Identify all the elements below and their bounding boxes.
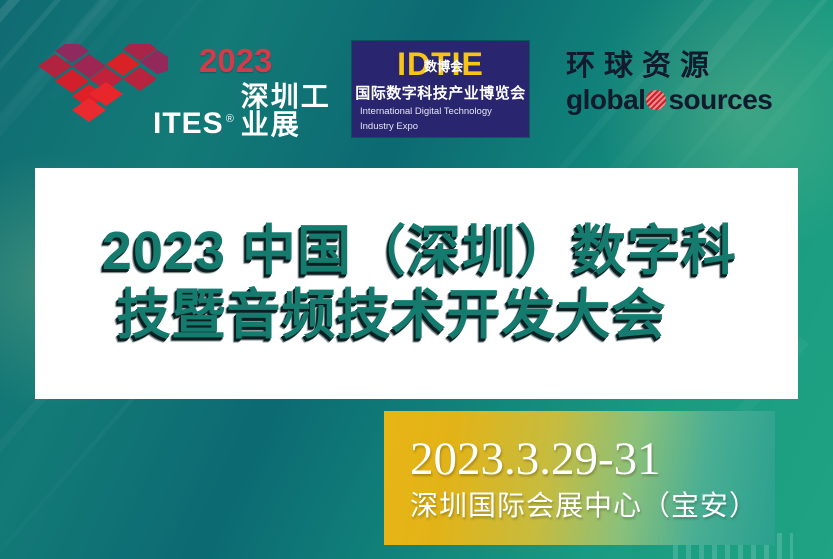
idtie-overlay-chinese: 数博会 (424, 60, 463, 73)
ites-chinese-name: 深圳工业展 (241, 83, 353, 139)
registered-trademark-icon: ® (226, 113, 234, 125)
global-sources-word-sources: sources (668, 86, 772, 114)
title-panel: 2023 中国（深圳）数字科 技暨音频技术开发大会 (35, 168, 798, 399)
event-poster: 2023 ITES ® 深圳工业展 IDTIE 数博会 国际数字科技产业博览会 … (0, 0, 833, 559)
idtie-english-line1: International Digital Technology (352, 106, 529, 118)
idtie-wordmark: IDTIE 数博会 (352, 47, 529, 81)
global-sources-logo: 环球资源 global sources (566, 52, 781, 128)
idtie-english-line2: Industry Expo (352, 121, 529, 133)
ites-logo: 2023 ITES ® 深圳工业展 (38, 38, 338, 138)
global-sources-chinese-name: 环球资源 (566, 52, 781, 81)
idtie-logo: IDTIE 数博会 国际数字科技产业博览会 International Digi… (352, 41, 529, 137)
ites-chevron-icon (38, 44, 168, 132)
global-sources-word-global: global (566, 86, 645, 114)
ites-year: 2023 (199, 44, 353, 77)
ites-name-row: ITES ® 深圳工业展 (153, 83, 353, 139)
event-dates: 2023.3.29-31 (410, 434, 775, 485)
date-venue-panel: 2023.3.29-31 深圳国际会展中心（宝安） (384, 411, 775, 545)
event-venue: 深圳国际会展中心（宝安） (410, 489, 775, 523)
ites-brand: ITES (153, 109, 224, 139)
globe-dot-icon (646, 90, 666, 110)
event-title-line-2: 技暨音频技术开发大会 (117, 284, 717, 348)
global-sources-wordmark: global sources (566, 86, 781, 114)
sponsor-logo-row: 2023 ITES ® 深圳工业展 IDTIE 数博会 国际数字科技产业博览会 … (0, 0, 833, 155)
ites-text-block: 2023 ITES ® 深圳工业展 (153, 44, 353, 136)
event-title-line-1: 2023 中国（深圳）数字科 (96, 220, 737, 284)
idtie-chinese-name: 国际数字科技产业博览会 (352, 85, 529, 103)
